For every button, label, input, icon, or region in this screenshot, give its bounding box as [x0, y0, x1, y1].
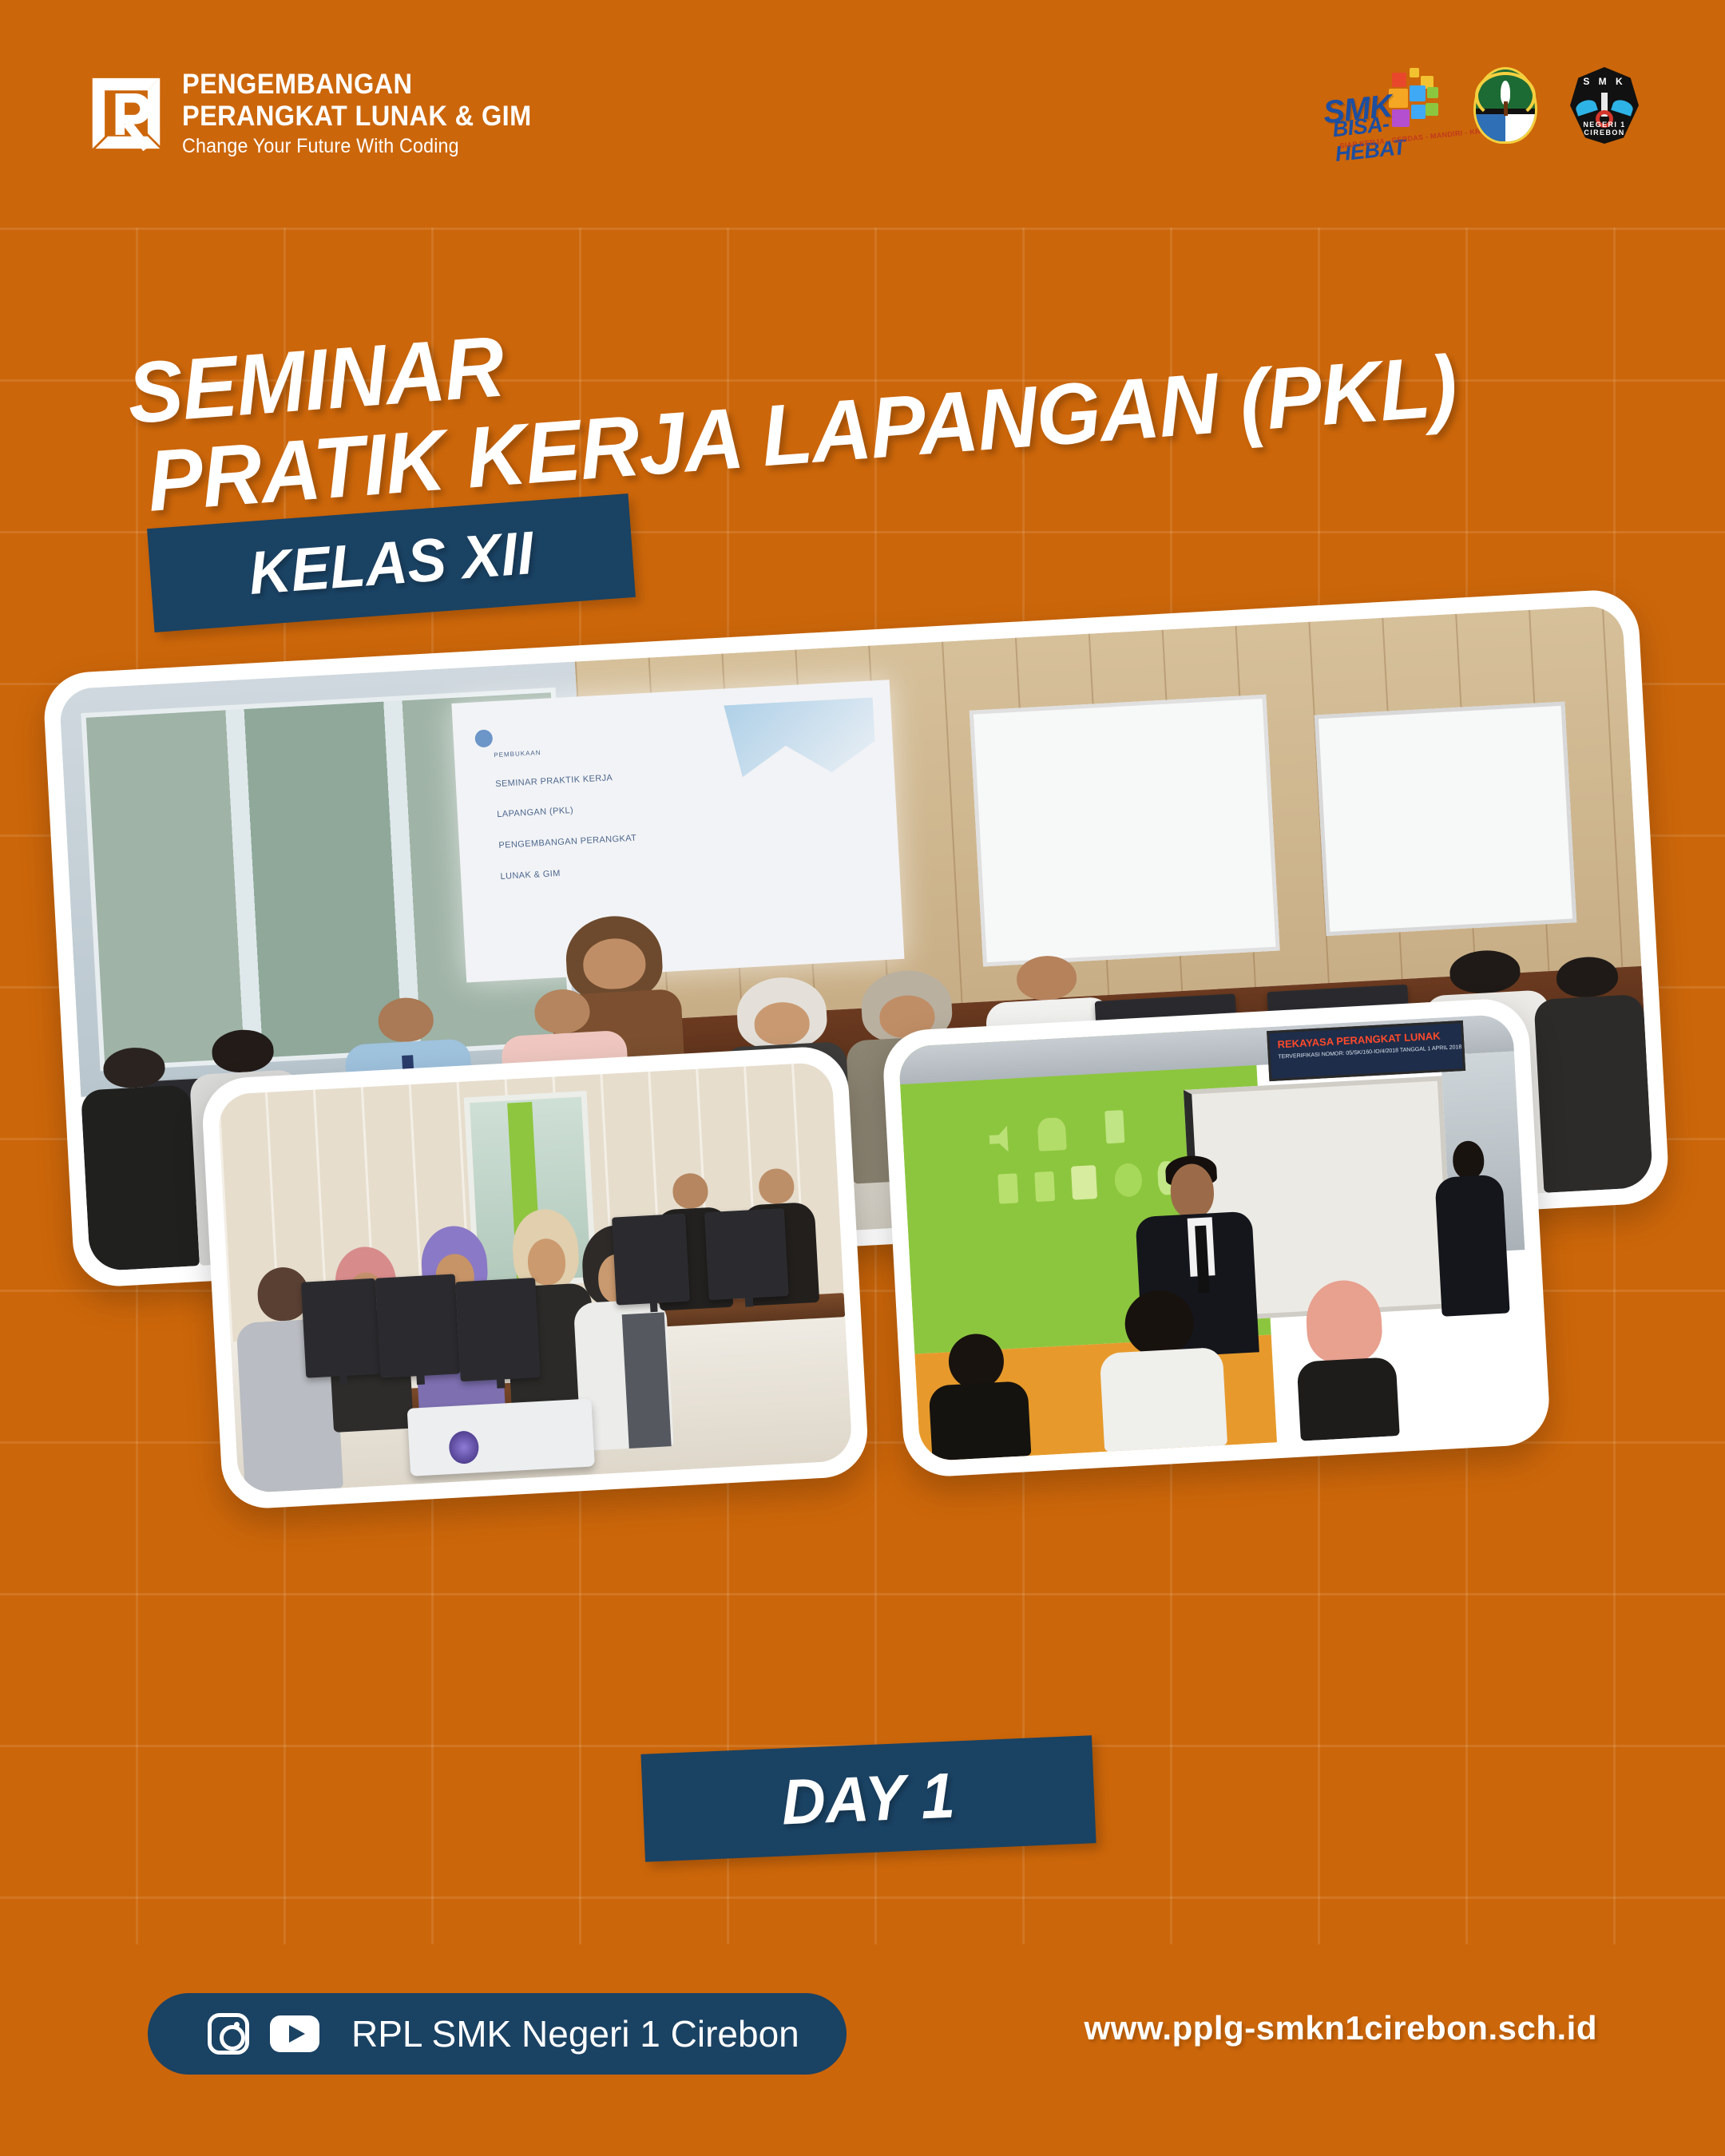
youtube-icon[interactable] — [270, 2015, 319, 2052]
footer: RPL SMK Negeri 1 Cirebon www.pplg-smkn1c… — [0, 1972, 1725, 2156]
day-badge: DAY 1 — [640, 1735, 1096, 1862]
wall-sign: REKAYASA PERANGKAT LUNAK TERVERIFIKASI N… — [1267, 1021, 1465, 1081]
photo-students-computer-lab — [200, 1044, 870, 1510]
instagram-icon[interactable] — [208, 2013, 249, 2055]
smk-bisa-hebat-logo: SMK BISA-HEBAT SIAP KERJA - CERDAS - MAN… — [1323, 68, 1443, 144]
partner-logos: SMK BISA-HEBAT SIAP KERJA - CERDAS - MAN… — [1323, 65, 1641, 145]
brand-lockup: PENGEMBANGAN PERANGKAT LUNAK & GIM Chang… — [88, 70, 558, 157]
pplg-bracket-r-logo — [88, 73, 165, 153]
brand-line2: PERANGKAT LUNAK & GIM — [182, 102, 532, 130]
brand-tagline: Change Your Future With Coding — [182, 137, 532, 157]
jawa-barat-provincial-emblem — [1470, 65, 1541, 145]
photo-collage: PEMBUKAAN SEMINAR PRAKTIK KERJA LAPANGAN… — [0, 607, 1725, 1741]
header: PENGEMBANGAN PERANGKAT LUNAK & GIM Chang… — [0, 0, 1725, 184]
website-url[interactable]: www.pplg-smkn1cirebon.sch.id — [1084, 2009, 1597, 2047]
slide-eyebrow: PEMBUKAAN — [494, 749, 541, 759]
brand-line1: PENGEMBANGAN — [182, 70, 532, 98]
social-handle-label: RPL SMK Negeri 1 Cirebon — [351, 2012, 799, 2055]
slide-line1: SEMINAR PRAKTIK KERJA — [495, 773, 613, 789]
slide-line3: PENGEMBANGAN PERANGKAT — [498, 834, 636, 850]
social-handle-pill[interactable]: RPL SMK Negeri 1 Cirebon — [148, 1993, 847, 2075]
day-badge-label: DAY 1 — [780, 1758, 956, 1839]
smkn1-bottom-text: NEGERI 1 CIREBON — [1568, 121, 1641, 137]
slide-line4: LUNAK & GIM — [500, 868, 561, 881]
class-badge-label: KELAS XII — [247, 518, 536, 608]
smk-negeri-1-cirebon-emblem: S M K NEGERI 1 CIREBON — [1568, 65, 1641, 145]
smkn1-top-text: S M K — [1568, 76, 1641, 87]
brand-text: PENGEMBANGAN PERANGKAT LUNAK & GIM Chang… — [182, 70, 558, 157]
photo-student-presenting: REKAYASA PERANGKAT LUNAK TERVERIFIKASI N… — [881, 997, 1551, 1479]
slide-line2: LAPANGAN (PKL) — [497, 806, 573, 819]
